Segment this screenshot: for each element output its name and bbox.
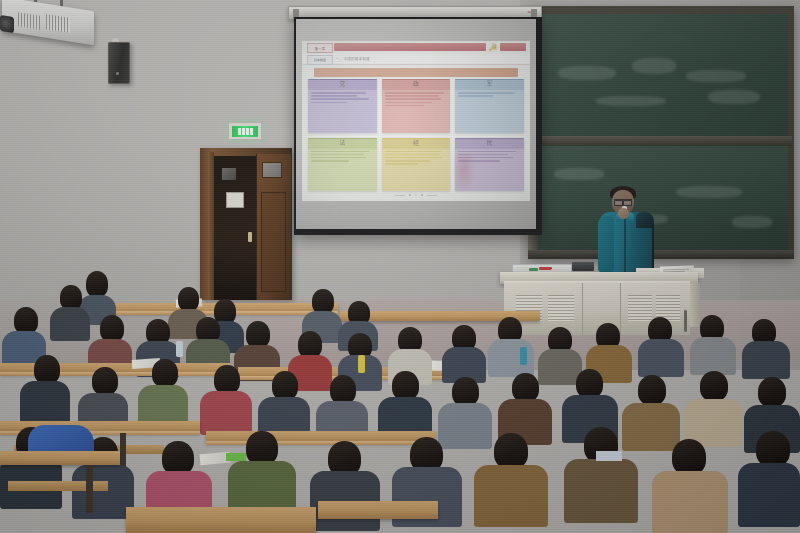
exit-glyph [238, 128, 241, 135]
exit-sign-face [232, 126, 258, 137]
slide-card-header: 经 [382, 138, 451, 149]
audience-area [0, 255, 800, 533]
slide-text-line [311, 92, 366, 94]
student-body [72, 465, 134, 519]
screen-surface: 第一章 ☭ 基本制度 一、中国的基本制度 党政军法经民 1 [296, 19, 536, 229]
slide-text-line [458, 151, 516, 153]
slide-card-header: 军 [455, 79, 524, 90]
student-head [14, 307, 38, 334]
exit-glyph [242, 128, 245, 135]
slide-card: 经 [382, 138, 451, 192]
student-body [564, 459, 638, 523]
slide-subheader: 基本制度 一、中国的基本制度 [302, 54, 530, 65]
slide-text-line [311, 102, 347, 104]
slide-text-line [311, 98, 369, 100]
student-head [92, 367, 118, 395]
bottle-icon [520, 347, 527, 365]
slide-text-line [385, 160, 430, 162]
slide-card-heading: 党 [339, 82, 345, 88]
door-window [262, 162, 282, 178]
exit-sign-icon [228, 122, 262, 140]
student-head [246, 321, 270, 348]
slide-card: 党 [308, 79, 377, 133]
footer-dot [409, 194, 411, 196]
student-body [690, 337, 736, 375]
slide-text-line [311, 151, 369, 153]
slide-text-line [458, 92, 514, 94]
slide-footer: 1 [302, 191, 530, 199]
lecture-hall-photo: Screen 第一章 ☭ 基本制度 一、中国的基本制度 党政军法经民 [0, 0, 800, 533]
footer-tick [427, 195, 437, 196]
student-head [100, 315, 124, 342]
slide-subtitle: 一、中国的基本制度 [336, 56, 370, 61]
slide-text-line [311, 157, 366, 159]
desk-shelf [8, 481, 108, 491]
speaker-led [116, 72, 119, 75]
slide-card-text [455, 90, 524, 99]
slide-text-line [385, 163, 419, 165]
student-body [742, 341, 790, 379]
student-head [298, 331, 322, 358]
desk-leg [86, 465, 93, 513]
slide-text-line [385, 154, 439, 156]
student-head [330, 375, 356, 404]
slide-card-heading: 经 [413, 141, 419, 147]
student-head [272, 371, 298, 400]
slide-text-line [385, 92, 444, 94]
student-head [756, 431, 790, 467]
slide-card-heading: 军 [487, 82, 493, 88]
student-body [20, 381, 70, 423]
student-head [758, 377, 786, 407]
slide-card-heading: 民 [487, 141, 493, 147]
slide-title-bar-right [500, 43, 526, 51]
student-head [512, 373, 539, 402]
student-body [50, 307, 90, 341]
student-body [200, 391, 252, 435]
slide-section-tag: 基本制度 [307, 55, 333, 65]
student-body [474, 465, 548, 527]
projection-red-stain [452, 153, 476, 193]
slide-text-line [311, 95, 357, 97]
door-window-inner [222, 168, 236, 180]
slide-text-line [385, 157, 443, 159]
chalkboard-panel-lower [536, 146, 788, 250]
bottle-icon [358, 355, 365, 373]
student-head [214, 365, 240, 394]
slide-card-header: 法 [308, 138, 377, 149]
student-body [738, 463, 800, 527]
exit-glyph [246, 128, 249, 135]
slide-banner [314, 68, 518, 77]
student-head [672, 439, 706, 475]
student-head [494, 433, 528, 469]
slide-text-line [458, 95, 493, 97]
slide-card-heading: 法 [339, 141, 345, 147]
student-head [152, 359, 178, 387]
slide-card-text [308, 90, 377, 105]
slide-card-heading: 政 [413, 82, 419, 88]
slide-page-number: 1 [415, 193, 417, 197]
exit-glyph [250, 128, 253, 135]
slide-card-header: 民 [455, 138, 524, 149]
footer-dot [421, 194, 423, 196]
student-head [86, 271, 108, 297]
desk-row [0, 451, 120, 465]
student-head [700, 371, 728, 401]
student-body [638, 339, 684, 377]
student-body [438, 403, 492, 449]
projector-lens [0, 15, 14, 33]
desk-edge [88, 311, 338, 315]
student-head [34, 355, 60, 384]
student-head [638, 375, 666, 405]
slide-card-text [382, 149, 451, 167]
presentation-slide: 第一章 ☭ 基本制度 一、中国的基本制度 党政军法经民 1 [302, 41, 530, 201]
slide-text-line [385, 102, 433, 104]
paper-sheet [596, 451, 622, 461]
party-emblem-icon: ☭ [485, 41, 501, 55]
slide-chapter-tag: 第一章 [307, 43, 333, 53]
desk-row-front [126, 507, 316, 533]
speaker-icon [108, 42, 130, 84]
slide-card-grid: 党政军法经民 [308, 79, 524, 191]
projection-screen[interactable]: 第一章 ☭ 基本制度 一、中国的基本制度 党政军法经民 1 [294, 17, 542, 235]
lecturer-hand [618, 208, 629, 219]
lecturer-backpack [636, 212, 654, 228]
door-handle[interactable] [248, 232, 252, 242]
slide-card: 政 [382, 79, 451, 133]
student-head [392, 371, 419, 400]
chalkboard-divider-rail [530, 136, 792, 146]
green-notebook [226, 453, 246, 461]
slide-card-text [308, 149, 377, 164]
student-head [162, 441, 194, 475]
bottle-icon [176, 341, 183, 357]
slide-text-line [385, 95, 439, 97]
student-body [488, 339, 534, 377]
slide-header: 第一章 ☭ [302, 41, 530, 55]
slide-text-line [385, 151, 441, 153]
slide-text-line [311, 160, 349, 162]
slide-card: 法 [308, 138, 377, 192]
slide-card-header: 政 [382, 79, 451, 90]
slide-card-header: 党 [308, 79, 377, 90]
slide-card-text [382, 90, 451, 108]
student-body [622, 403, 680, 451]
slide-card: 军 [455, 79, 524, 133]
footer-tick [395, 195, 405, 196]
slide-text-line [311, 154, 364, 156]
chalkboard-panel-upper [536, 14, 788, 138]
student-body [652, 471, 728, 533]
student-head [576, 369, 603, 398]
student-head [452, 377, 479, 406]
student-head [246, 431, 278, 465]
slide-text-line [385, 105, 424, 107]
student-head [178, 287, 199, 311]
door-notice-sign [226, 192, 244, 208]
glasses-icon [614, 199, 632, 204]
slide-title-bar [334, 43, 486, 51]
slide-text-line [385, 98, 441, 100]
desk-edge [206, 441, 436, 445]
desk-row-front [318, 501, 438, 519]
